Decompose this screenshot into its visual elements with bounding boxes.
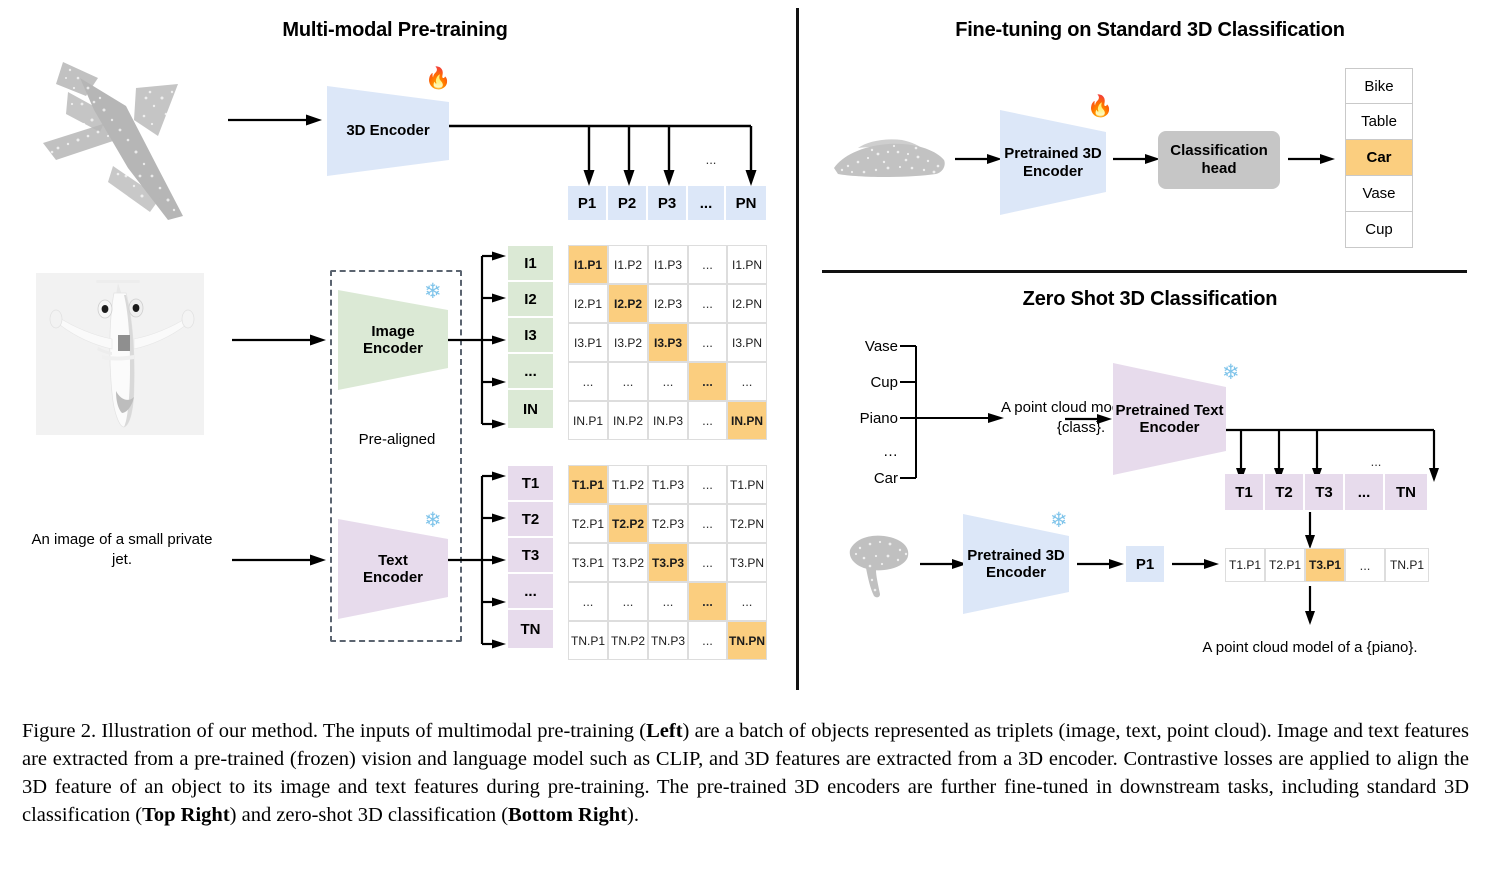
- matrix-row: T3.P1 T3.P2 T3.P3 ... T3.PN: [568, 543, 767, 582]
- matrix-cell[interactable]: TN.P3: [648, 621, 688, 660]
- arrow-text-to-text-encoder: [232, 550, 327, 570]
- arrow-pointcloud-to-3d-encoder: [228, 110, 323, 130]
- matrix-row: I3.P1 I3.P2 I3.P3 ... I3.PN: [568, 323, 767, 362]
- matrix-cell[interactable]: ...: [568, 582, 608, 621]
- jet-image-thumbnail: [36, 273, 204, 435]
- text-token-cell[interactable]: T3: [508, 538, 553, 574]
- matrix-cell[interactable]: TN.PN: [727, 621, 767, 660]
- zeroshot-encoder-label: Pretrained 3D Encoder: [967, 547, 1065, 582]
- class-item-selected[interactable]: Car: [1345, 140, 1413, 176]
- left-panel-title: Multi-modal Pre-training: [0, 19, 790, 42]
- zeroshot-class-item[interactable]: Car: [838, 470, 898, 487]
- class-item[interactable]: Vase: [1345, 176, 1413, 212]
- zeroshot-similarity-row: T1.P1 T2.P1 T3.P1 ... TN.P1: [1225, 548, 1429, 582]
- matrix-cell[interactable]: IN.P2: [608, 401, 648, 440]
- class-item[interactable]: Cup: [1345, 212, 1413, 248]
- zeroshot-result-text: A point cloud model of a {piano}.: [1160, 638, 1460, 658]
- image-token-cell[interactable]: I3: [508, 318, 553, 354]
- p-token-row: P1 P2 P3 ... PN: [568, 186, 766, 220]
- image-token-cell[interactable]: ...: [508, 354, 553, 390]
- p-token-cell[interactable]: P3: [648, 186, 688, 220]
- image-token-cell[interactable]: I2: [508, 282, 553, 318]
- p-token-cell[interactable]: P1: [568, 186, 608, 220]
- text-token-cell[interactable]: T2: [508, 502, 553, 538]
- p-token-cell[interactable]: ...: [688, 186, 726, 220]
- matrix-row: ... ... ... ... ...: [568, 582, 767, 621]
- matrix-cell[interactable]: T2.P2: [608, 504, 648, 543]
- matrix-cell[interactable]: I1.P2: [608, 245, 648, 284]
- matrix-cell[interactable]: ...: [688, 323, 727, 362]
- t-token-cell[interactable]: T1: [1225, 474, 1265, 510]
- matrix-cell[interactable]: I1.P3: [648, 245, 688, 284]
- piano-point-cloud: [844, 530, 916, 600]
- matrix-cell[interactable]: ...: [608, 582, 648, 621]
- p-token-cell[interactable]: PN: [726, 186, 766, 220]
- matrix-cell[interactable]: ...: [688, 504, 727, 543]
- caption-seg-3: ) and zero-shot 3D classification (: [230, 804, 508, 826]
- matrix-cell[interactable]: ...: [568, 362, 608, 401]
- matrix-cell[interactable]: T1.PN: [727, 465, 767, 504]
- matrix-cell[interactable]: T3.P2: [608, 543, 648, 582]
- caption-bold-left: Left: [646, 720, 682, 742]
- car-point-cloud: [828, 130, 950, 190]
- class-item[interactable]: Table: [1345, 104, 1413, 140]
- matrix-row: TN.P1 TN.P2 TN.P3 ... TN.PN: [568, 621, 767, 660]
- text-token-cell[interactable]: T1: [508, 466, 553, 502]
- matrix-cell[interactable]: IN.P3: [648, 401, 688, 440]
- text-point-similarity-matrix: T1.P1 T1.P2 T1.P3 ... T1.PN T2.P1 T2.P2 …: [568, 465, 767, 660]
- caption-seg-4: ).: [627, 804, 639, 826]
- matrix-cell[interactable]: T1.P3: [648, 465, 688, 504]
- matrix-row: I2.P1 I2.P2 I2.P3 ... I2.PN: [568, 284, 767, 323]
- image-token-cell[interactable]: IN: [508, 390, 553, 428]
- matrix-cell[interactable]: TN.P2: [608, 621, 648, 660]
- panel-horizontal-divider: [822, 270, 1467, 273]
- topright-encoder-label: Pretrained 3D Encoder: [1004, 145, 1102, 180]
- image-token-column: I1 I2 I3 ... IN: [508, 246, 553, 438]
- panel-vertical-divider: [796, 8, 799, 690]
- three-d-encoder-block[interactable]: 3D Encoder: [327, 86, 449, 176]
- t-token-cell[interactable]: TN: [1385, 474, 1427, 510]
- matrix-cell[interactable]: ...: [688, 245, 727, 284]
- matrix-cell[interactable]: T2.PN: [727, 504, 767, 543]
- matrix-cell[interactable]: ...: [648, 362, 688, 401]
- image-token-cell[interactable]: I1: [508, 246, 553, 282]
- image-encoder-label: Image Encoder: [363, 323, 423, 358]
- class-list-brace: [898, 340, 1008, 485]
- matrix-cell[interactable]: ...: [608, 362, 648, 401]
- matrix-cell[interactable]: IN.PN: [727, 401, 767, 440]
- svg-text:...: ...: [1371, 454, 1382, 469]
- matrix-row: T2.P1 T2.P2 T2.P3 ... T2.PN: [568, 504, 767, 543]
- matrix-cell[interactable]: T2.P3: [648, 504, 688, 543]
- arrow-head-to-classes: [1288, 150, 1336, 168]
- matrix-cell[interactable]: ...: [688, 621, 727, 660]
- matrix-cell[interactable]: ...: [648, 582, 688, 621]
- pretrained-text-encoder-block[interactable]: Pretrained Text Encoder: [1113, 363, 1226, 475]
- matrix-cell[interactable]: I2.P1: [568, 284, 608, 323]
- matrix-cell[interactable]: ...: [727, 582, 767, 621]
- matrix-cell[interactable]: T1.P2: [608, 465, 648, 504]
- classification-head-block[interactable]: Classification head: [1158, 131, 1280, 189]
- matrix-cell[interactable]: I2.P2: [608, 284, 648, 323]
- zeroshot-class-item[interactable]: …: [838, 443, 898, 460]
- matrix-cell[interactable]: I2.PN: [727, 284, 767, 323]
- p-token-cell[interactable]: P2: [608, 186, 648, 220]
- text-encoder-label: Text Encoder: [363, 552, 423, 587]
- matrix-cell[interactable]: T1.P1: [568, 465, 608, 504]
- matrix-cell[interactable]: I3.P3: [648, 323, 688, 362]
- sim-cell-selected[interactable]: T3.P1: [1305, 548, 1345, 582]
- text-feature-fanout: [448, 470, 508, 655]
- matrix-cell[interactable]: I3.PN: [727, 323, 767, 362]
- matrix-cell[interactable]: ...: [688, 362, 727, 401]
- matrix-cell[interactable]: ...: [727, 362, 767, 401]
- arrow-image-to-image-encoder: [232, 330, 327, 350]
- matrix-cell[interactable]: ...: [688, 284, 727, 323]
- three-d-encoder-label: 3D Encoder: [346, 122, 429, 139]
- arrow-car-to-encoder: [955, 150, 1003, 168]
- caption-bold-topright: Top Right: [142, 804, 230, 826]
- pretrained-text-encoder-label: Pretrained Text Encoder: [1115, 402, 1223, 437]
- sim-cell[interactable]: T1.P1: [1225, 548, 1265, 582]
- matrix-cell[interactable]: TN.P1: [568, 621, 608, 660]
- t-token-cell[interactable]: T3: [1305, 474, 1345, 510]
- zeroshot-class-item[interactable]: Vase: [838, 338, 898, 355]
- matrix-cell[interactable]: T3.PN: [727, 543, 767, 582]
- matrix-cell[interactable]: ...: [688, 401, 727, 440]
- arrow-encoder-to-head: [1113, 150, 1161, 168]
- matrix-cell[interactable]: I1.PN: [727, 245, 767, 284]
- t-token-cell[interactable]: ...: [1345, 474, 1385, 510]
- arrow-simrow-to-result: [1300, 586, 1320, 626]
- text-token-cell[interactable]: TN: [508, 610, 553, 648]
- matrix-cell[interactable]: ...: [688, 543, 727, 582]
- matrix-cell[interactable]: ...: [688, 465, 727, 504]
- arrow-prompt-to-text-encoder: [1065, 410, 1113, 428]
- classification-head-label: Classification head: [1170, 142, 1268, 178]
- text-input-caption: An image of a small private jet.: [30, 530, 214, 571]
- matrix-cell[interactable]: T3.P3: [648, 543, 688, 582]
- bottomright-panel-title: Zero Shot 3D Classification: [820, 288, 1480, 311]
- class-item[interactable]: Bike: [1345, 68, 1413, 104]
- t-token-cell[interactable]: T2: [1265, 474, 1305, 510]
- text-token-column: T1 T2 T3 ... TN: [508, 466, 553, 658]
- matrix-cell[interactable]: T3.P1: [568, 543, 608, 582]
- zeroshot-p1-token[interactable]: P1: [1126, 546, 1166, 582]
- image-encoder-block[interactable]: Image Encoder: [338, 290, 448, 390]
- matrix-row: IN.P1 IN.P2 IN.P3 ... IN.PN: [568, 401, 767, 440]
- sim-cell[interactable]: TN.P1: [1385, 548, 1429, 582]
- text-encoder-block[interactable]: Text Encoder: [338, 519, 448, 619]
- arrow-trow-to-simrow: [1300, 512, 1320, 550]
- arrow-piano-to-encoder: [920, 555, 968, 573]
- matrix-cell[interactable]: I3.P1: [568, 323, 608, 362]
- matrix-cell[interactable]: I1.P1: [568, 245, 608, 284]
- matrix-cell[interactable]: ...: [688, 582, 727, 621]
- topright-panel-title: Fine-tuning on Standard 3D Classificatio…: [820, 19, 1480, 42]
- matrix-row: T1.P1 T1.P2 T1.P3 ... T1.PN: [568, 465, 767, 504]
- text-token-cell[interactable]: ...: [508, 574, 553, 610]
- zeroshot-class-item[interactable]: Piano: [830, 410, 898, 427]
- matrix-cell[interactable]: I2.P3: [648, 284, 688, 323]
- topright-pretrained-3d-encoder-block[interactable]: Pretrained 3D Encoder: [1000, 110, 1106, 215]
- matrix-row: ... ... ... ... ...: [568, 362, 767, 401]
- zeroshot-pretrained-3d-encoder-block[interactable]: Pretrained 3D Encoder: [963, 514, 1069, 614]
- matrix-cell[interactable]: IN.P1: [568, 401, 608, 440]
- airplane-point-cloud: [8, 48, 198, 228]
- arrow-encoder-to-p1: [1077, 555, 1125, 573]
- matrix-row: I1.P1 I1.P2 I1.P3 ... I1.PN: [568, 245, 767, 284]
- zeroshot-t-token-row: T1 T2 T3 ... TN: [1225, 474, 1429, 510]
- matrix-cell[interactable]: T2.P1: [568, 504, 608, 543]
- three-d-feature-bus: ...: [448, 118, 770, 190]
- matrix-cell[interactable]: I3.P2: [608, 323, 648, 362]
- caption-seg-1: Figure 2. Illustration of our method. Th…: [22, 720, 646, 742]
- figure-caption: Figure 2. Illustration of our method. Th…: [22, 718, 1469, 830]
- pre-aligned-label: Pre-aligned: [343, 431, 451, 448]
- class-list: Bike Table Car Vase Cup: [1345, 68, 1413, 248]
- sim-cell[interactable]: T2.P1: [1265, 548, 1305, 582]
- arrow-p1-to-simrow: [1172, 555, 1220, 573]
- svg-text:...: ...: [706, 152, 717, 167]
- image-point-similarity-matrix: I1.P1 I1.P2 I1.P3 ... I1.PN I2.P1 I2.P2 …: [568, 245, 767, 440]
- sim-cell[interactable]: ...: [1345, 548, 1385, 582]
- image-feature-fanout: [448, 250, 508, 435]
- caption-bold-bottomright: Bottom Right: [508, 804, 627, 826]
- zeroshot-class-item[interactable]: Cup: [838, 374, 898, 391]
